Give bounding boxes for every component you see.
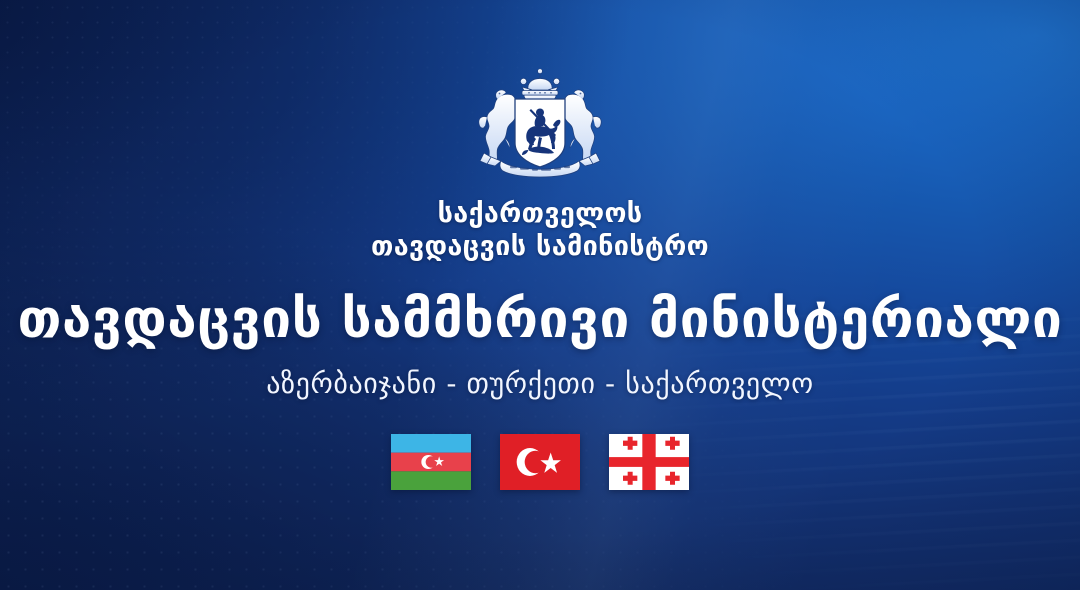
turkey-flag-icon <box>500 434 580 490</box>
azerbaijan-flag-icon <box>391 434 471 490</box>
trilateral-defence-ministerial-banner: საქართველოს თავდაცვის სამინისტრო თავდაცვ… <box>0 0 1080 590</box>
banner-content: საქართველოს თავდაცვის სამინისტრო თავდაცვ… <box>0 0 1080 590</box>
ministry-name: საქართველოს თავდაცვის სამინისტრო <box>371 197 709 263</box>
ministry-name-line-2: თავდაცვის სამინისტრო <box>371 230 709 263</box>
participating-countries-subheadline: აზერბაიჯანი - თურქეთი - საქართველო <box>266 367 814 400</box>
ministry-name-line-1: საქართველოს <box>438 198 643 229</box>
flags-row <box>391 434 689 490</box>
event-headline: თავდაცვის სამმხრივი მინისტერიალი <box>18 293 1063 347</box>
georgia-flag-icon <box>609 434 689 490</box>
georgia-coat-of-arms-icon <box>465 66 615 188</box>
